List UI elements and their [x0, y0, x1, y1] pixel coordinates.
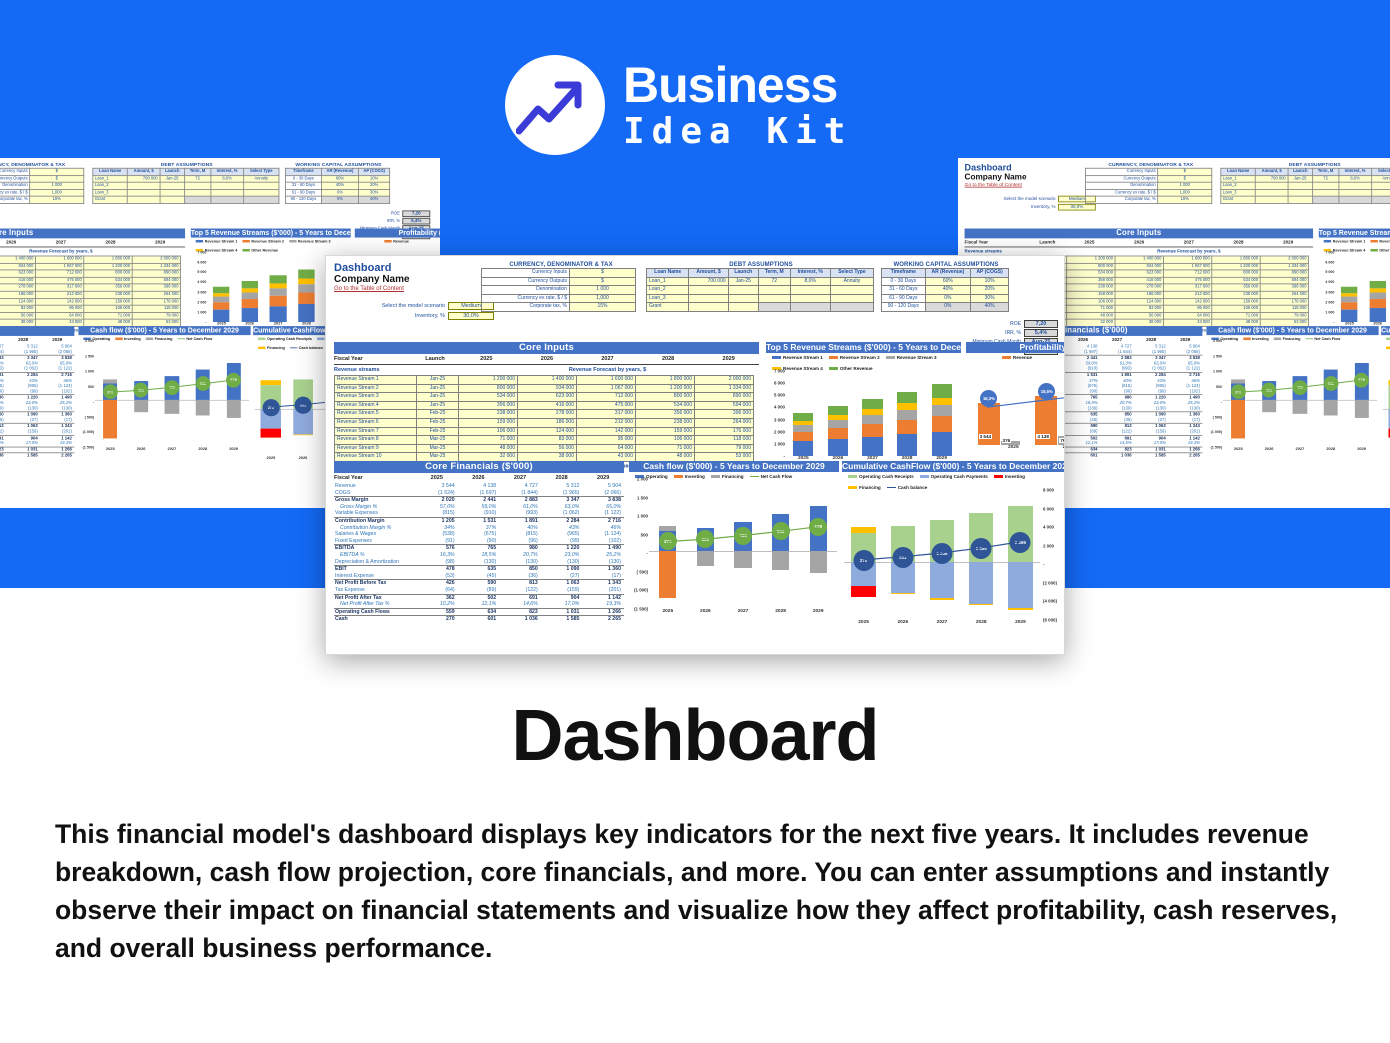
stream-value[interactable]: 1 200 000 [1212, 263, 1260, 270]
stream-value[interactable]: 534 000 [636, 401, 695, 410]
cf-row-label: Contribution Margin [334, 518, 416, 525]
chart-cash-flow: Cash flow ($'000) - 5 Years to December … [1206, 326, 1378, 456]
stream-value[interactable]: 278 000 [1115, 284, 1163, 291]
debt-cell[interactable] [244, 189, 279, 196]
wc-cell[interactable]: 61 - 90 Days [286, 189, 322, 196]
debt-cell[interactable]: Loan_2 [93, 182, 128, 189]
debt-cell[interactable]: Grant [93, 196, 128, 203]
stream-value[interactable]: 396 000 [132, 284, 180, 291]
currency-row-value[interactable]: 1,000 [30, 189, 84, 196]
stream-launch[interactable]: Feb-25 [417, 410, 459, 419]
stream-value[interactable]: 64 000 [577, 444, 636, 453]
stream-value[interactable]: 56 000 [518, 444, 577, 453]
stream-value[interactable]: 118 000 [132, 305, 180, 312]
dashboard-sheet-main[interactable]: DashboardCompany NameGo to the Table of … [325, 255, 1065, 655]
stream-value[interactable]: 264 000 [132, 291, 180, 298]
stream-value[interactable]: 238 000 [459, 410, 518, 419]
debt-cell[interactable]: Annuity [244, 175, 279, 182]
debt-cell[interactable] [1313, 182, 1339, 189]
debt-cell[interactable] [160, 196, 185, 203]
debt-cell[interactable]: Grant [647, 303, 689, 312]
stream-value[interactable]: 142 000 [35, 298, 83, 305]
debt-cell[interactable]: Annuity [1372, 175, 1390, 182]
stream-value[interactable]: 594 000 [1260, 277, 1308, 284]
stream-value[interactable]: 48 000 [1067, 312, 1115, 319]
debt-cell[interactable] [1313, 196, 1339, 203]
debt-cell[interactable] [1256, 189, 1288, 196]
stream-value[interactable]: 2 000 000 [132, 256, 180, 263]
bar-group [786, 371, 821, 456]
debt-cell[interactable] [790, 286, 830, 295]
stream-value[interactable]: 1 200 000 [636, 384, 695, 393]
stream-value[interactable]: 1 200 000 [1067, 256, 1115, 263]
table-of-content-link[interactable]: Go to the Table of Content [965, 182, 1096, 189]
wc-cell[interactable]: 31 - 60 Days [286, 182, 322, 189]
currency-denominator-tax-block: CURRENCY, DENOMINATOR & TAXCurrency Inpu… [481, 262, 641, 312]
debt-cell[interactable]: Annuity [830, 277, 873, 286]
stream-value[interactable]: 159 000 [636, 427, 695, 436]
bar-group: 679 [1346, 341, 1377, 448]
stream-value[interactable]: 64 000 [1163, 312, 1211, 319]
stream-value[interactable]: 356 000 [84, 284, 132, 291]
wc-cell[interactable]: 0% [925, 294, 971, 303]
debt-cell[interactable]: Loan_1 [647, 277, 689, 286]
stream-value[interactable]: 64 000 [35, 312, 83, 319]
debt-cell[interactable] [689, 294, 728, 303]
wc-cell[interactable]: 60% [925, 277, 971, 286]
debt-cell[interactable] [185, 189, 211, 196]
stream-value[interactable]: 594 000 [695, 401, 754, 410]
debt-cell[interactable] [128, 182, 160, 189]
stream-value[interactable]: 278 000 [0, 284, 35, 291]
stream-value[interactable]: 212 000 [577, 418, 636, 427]
stream-value[interactable]: 79 000 [695, 444, 754, 453]
stream-value[interactable]: 594 000 [132, 277, 180, 284]
stream-value[interactable]: 95 000 [1163, 305, 1211, 312]
debt-cell[interactable] [1339, 196, 1372, 203]
stream-value[interactable]: 142 000 [1163, 298, 1211, 305]
stream-value[interactable]: 83 000 [0, 305, 35, 312]
stream-value[interactable]: 623 000 [1115, 270, 1163, 277]
cf-year-header: 2029 [40, 338, 74, 343]
stream-value[interactable]: 416 000 [0, 277, 35, 284]
stream-value[interactable]: 396 000 [1260, 284, 1308, 291]
debt-cell[interactable] [1256, 196, 1288, 203]
stream-value[interactable]: 800 000 [636, 393, 695, 402]
stream-value[interactable]: 356 000 [1067, 277, 1115, 284]
debt-cell[interactable] [185, 196, 211, 203]
legend-item: Revenue Stream 3 [289, 239, 331, 243]
stream-value[interactable]: 159 000 [1067, 291, 1115, 298]
debt-cell[interactable]: 700 000 [128, 175, 160, 182]
stream-value[interactable]: 800 000 [1212, 270, 1260, 277]
cf-row-value: (1 122) [1168, 367, 1202, 372]
stream-value[interactable]: 712 000 [577, 393, 636, 402]
wc-cell[interactable]: 20% [971, 286, 1009, 295]
currency-row-value[interactable]: 1,000 [1158, 189, 1212, 196]
wc-cell[interactable]: 31 - 60 Days [882, 286, 926, 295]
stream-launch[interactable]: Jan-25 [417, 376, 459, 385]
revenue-label: 4 138 [1036, 434, 1050, 439]
stream-value[interactable]: 186 000 [1115, 291, 1163, 298]
stream-value[interactable]: 2 000 000 [1260, 256, 1308, 263]
stream-value[interactable]: 1 067 000 [577, 384, 636, 393]
stream-value[interactable]: 176 000 [132, 298, 180, 305]
stream-value[interactable]: 238 000 [636, 418, 695, 427]
debt-cell[interactable] [830, 303, 873, 312]
wc-cell[interactable]: 40% [359, 196, 390, 203]
debt-cell[interactable] [1288, 196, 1313, 203]
stream-value[interactable]: 1 334 000 [1260, 263, 1308, 270]
stream-value[interactable]: 1 200 000 [459, 376, 518, 385]
currency-row-value[interactable]: $ [570, 269, 636, 278]
debt-cell[interactable] [211, 189, 244, 196]
stream-name[interactable]: Revenue Stream 4 [335, 401, 417, 410]
debt-cell[interactable] [830, 294, 873, 303]
stream-value[interactable]: 890 000 [132, 270, 180, 277]
stream-value[interactable]: 176 000 [695, 427, 754, 436]
bar-group [236, 252, 264, 322]
debt-cell[interactable]: 72 [185, 175, 211, 182]
stream-value[interactable]: 712 000 [35, 270, 83, 277]
stream-name[interactable]: Revenue Stream 1 [335, 376, 417, 385]
stream-value[interactable]: 124 000 [1115, 298, 1163, 305]
cf-row-label: Cash [334, 616, 416, 623]
stream-value[interactable]: 416 000 [1115, 277, 1163, 284]
debt-cell[interactable] [160, 189, 185, 196]
y-tick: (1 500) [1211, 445, 1222, 449]
stream-value[interactable]: 800 000 [1067, 263, 1115, 270]
bar-segment [1370, 281, 1386, 289]
stream-value[interactable]: 95 000 [577, 436, 636, 445]
debt-cell[interactable] [128, 196, 160, 203]
wc-cell[interactable]: 30% [359, 189, 390, 196]
cf-row-label: Net Profit Before Tax [334, 580, 416, 587]
stream-value[interactable]: 159 000 [459, 418, 518, 427]
debt-cell[interactable]: Jan-25 [728, 277, 758, 286]
debt-cell[interactable] [244, 182, 279, 189]
stream-value[interactable]: 396 000 [695, 410, 754, 419]
debt-cell[interactable] [1372, 182, 1390, 189]
net-cash-flow-bubble: 550 [195, 376, 210, 391]
currency-row-label: Currency ex rate, $ / $ [482, 294, 570, 303]
debt-cell[interactable] [790, 303, 830, 312]
currency-row-value[interactable]: 15% [570, 303, 636, 312]
stream-value[interactable]: 534 000 [1212, 277, 1260, 284]
legend-swatch [829, 356, 838, 360]
debt-cell[interactable]: 8,0% [790, 277, 830, 286]
debt-cell[interactable] [1288, 182, 1313, 189]
currency-row-value[interactable]: 1 000 [1158, 182, 1212, 189]
debt-cell[interactable] [1372, 189, 1390, 196]
stream-value[interactable]: 176 000 [1260, 298, 1308, 305]
stream-name[interactable]: Revenue Stream 3 [335, 393, 417, 402]
bar-group [924, 371, 959, 456]
stream-name[interactable]: Revenue Stream 6 [335, 418, 417, 427]
stream-value[interactable]: 1 800 000 [84, 256, 132, 263]
chart-title: Top 5 Revenue Streams ($'000) - 5 Years … [1319, 229, 1390, 238]
debt-cell[interactable] [830, 286, 873, 295]
stream-value[interactable]: 356 000 [636, 410, 695, 419]
stream-value[interactable]: 106 000 [459, 427, 518, 436]
stream-value[interactable]: 238 000 [1212, 291, 1260, 298]
currency-row-value[interactable]: $ [30, 168, 84, 175]
stream-value[interactable]: 475 000 [577, 401, 636, 410]
wc-cell[interactable]: 0% [321, 196, 358, 203]
stream-value[interactable]: 56 000 [0, 312, 35, 319]
stream-value[interactable]: 186 000 [0, 291, 35, 298]
stream-name[interactable]: Revenue Stream 9 [335, 444, 417, 453]
debt-cell[interactable]: 700 000 [1256, 175, 1288, 182]
stream-value[interactable]: 142 000 [577, 427, 636, 436]
debt-col-header: Launch [1288, 168, 1313, 175]
currency-row-value[interactable]: $ [1158, 175, 1212, 182]
debt-cell[interactable]: 72 [758, 277, 790, 286]
stream-name[interactable]: Revenue Stream 5 [335, 410, 417, 419]
cf-row-value: 3 544 [416, 483, 458, 490]
inventory-input[interactable]: 30,0% [448, 312, 494, 320]
stream-value[interactable]: 1 067 000 [1163, 263, 1211, 270]
stream-value[interactable]: 317 000 [577, 410, 636, 419]
currency-row-value[interactable]: 1 000 [570, 286, 636, 295]
stream-value[interactable]: 48 000 [459, 444, 518, 453]
debt-cell[interactable]: 72 [1313, 175, 1339, 182]
debt-cell[interactable]: Grant [1221, 196, 1256, 203]
stacked-bar [213, 287, 229, 322]
stream-value[interactable]: 264 000 [695, 418, 754, 427]
debt-cell[interactable] [758, 294, 790, 303]
stream-value[interactable]: 238 000 [84, 291, 132, 298]
stream-value[interactable]: 95 000 [35, 305, 83, 312]
stream-value[interactable]: 106 000 [636, 436, 695, 445]
stream-launch[interactable]: Feb-25 [417, 427, 459, 436]
stream-value[interactable]: 71 000 [636, 444, 695, 453]
debt-cell[interactable]: 700 000 [689, 277, 728, 286]
stream-value[interactable]: 1 600 000 [35, 256, 83, 263]
debt-cell[interactable] [1339, 189, 1372, 196]
stream-value[interactable]: 317 000 [35, 284, 83, 291]
stream-value[interactable]: 1 067 000 [35, 263, 83, 270]
stream-value[interactable]: 1 334 000 [132, 263, 180, 270]
revenue-label: 3 544 [979, 434, 993, 439]
stream-value[interactable]: 1 334 000 [695, 384, 754, 393]
debt-cell[interactable] [790, 294, 830, 303]
stream-launch[interactable]: Feb-25 [417, 418, 459, 427]
debt-cell[interactable]: Loan_3 [1221, 189, 1256, 196]
stream-value[interactable]: 534 000 [84, 277, 132, 284]
debt-cell[interactable] [1288, 189, 1313, 196]
bar-group: 331 [1254, 341, 1285, 448]
stream-launch[interactable]: Mar-25 [417, 444, 459, 453]
kpi-label: ROE [391, 211, 400, 216]
debt-cell[interactable] [728, 286, 758, 295]
stream-value[interactable]: 278 000 [518, 410, 577, 419]
wc-cell[interactable]: 90 - 120 Days [286, 196, 322, 203]
stream-value[interactable]: 1 600 000 [577, 376, 636, 385]
wc-cell[interactable]: 0% [321, 189, 358, 196]
debt-cell[interactable] [758, 286, 790, 295]
debt-cell[interactable] [160, 182, 185, 189]
debt-cell[interactable] [211, 196, 244, 203]
debt-cell[interactable] [689, 303, 728, 312]
revenue-forecast-table: Revenue Stream 1Jan-251 200 0001 400 000… [0, 256, 181, 327]
stream-launch[interactable]: Jan-25 [417, 401, 459, 410]
stream-value[interactable]: 71 000 [84, 312, 132, 319]
currency-row-value[interactable]: 1,000 [570, 294, 636, 303]
stream-value[interactable]: 890 000 [695, 393, 754, 402]
debt-cell[interactable]: Loan_3 [93, 189, 128, 196]
debt-cell[interactable]: Jan-25 [160, 175, 185, 182]
stream-value[interactable]: 56 000 [1115, 312, 1163, 319]
stream-value[interactable]: 623 000 [518, 393, 577, 402]
stream-value[interactable]: 1 200 000 [84, 263, 132, 270]
stream-value[interactable]: 79 000 [132, 312, 180, 319]
stream-value[interactable]: 83 000 [1115, 305, 1163, 312]
debt-cell[interactable] [1313, 189, 1339, 196]
stream-value[interactable]: 71 000 [1212, 312, 1260, 319]
debt-cell[interactable] [185, 182, 211, 189]
stream-launch[interactable]: Mar-25 [417, 436, 459, 445]
stream-value[interactable]: 1 800 000 [1212, 256, 1260, 263]
stream-value[interactable]: 1 800 000 [636, 376, 695, 385]
stream-launch[interactable]: Jan-25 [417, 393, 459, 402]
stream-value[interactable]: 934 000 [0, 263, 35, 270]
stream-value[interactable]: 124 000 [518, 427, 577, 436]
stream-name[interactable]: Revenue Stream 7 [335, 427, 417, 436]
cf-row: Net Profit After Tax %10,2%12,1%14,6%17,… [334, 601, 624, 608]
debt-cell[interactable]: 8,0% [211, 175, 244, 182]
stream-value[interactable]: 2 000 000 [695, 376, 754, 385]
debt-cell[interactable] [211, 182, 244, 189]
stream-value[interactable]: 534 000 [459, 393, 518, 402]
debt-cell[interactable]: Loan_1 [1221, 175, 1256, 182]
year-header: 2026 [0, 240, 36, 245]
stream-name[interactable]: Revenue Stream 8 [335, 436, 417, 445]
currency-row-value[interactable]: $ [570, 277, 636, 286]
table-row: Revenue Stream 4Jan-25356 000416 000475 … [335, 401, 754, 410]
financing-bar [1262, 400, 1276, 412]
debt-cell[interactable]: Loan_1 [93, 175, 128, 182]
currency-row-value[interactable]: $ [1158, 168, 1212, 175]
debt-cell[interactable] [1339, 182, 1372, 189]
stream-value[interactable]: 317 000 [1163, 284, 1211, 291]
stream-value[interactable]: 534 000 [1067, 270, 1115, 277]
stream-value[interactable]: 934 000 [518, 384, 577, 393]
debt-cell[interactable] [728, 303, 758, 312]
stream-value[interactable]: 475 000 [1163, 277, 1211, 284]
wc-cell[interactable]: 40% [321, 182, 358, 189]
debt-cell[interactable] [758, 303, 790, 312]
stream-value[interactable]: 475 000 [35, 277, 83, 284]
debt-cell[interactable]: Loan_2 [1221, 182, 1256, 189]
net-cash-flow-bubble: 331 [134, 383, 149, 398]
wc-cell[interactable]: 10% [971, 277, 1009, 286]
wc-cell[interactable]: 0 - 30 Days [882, 277, 926, 286]
debt-cell[interactable]: Jan-25 [1288, 175, 1313, 182]
stream-value[interactable]: 238 000 [1067, 284, 1115, 291]
stream-name[interactable]: Revenue Stream 2 [335, 384, 417, 393]
wc-cell[interactable]: 0 - 30 Days [286, 175, 322, 182]
wc-cell[interactable]: 60% [321, 175, 358, 182]
wc-cell[interactable]: 40% [925, 286, 971, 295]
wc-cell[interactable]: 40% [971, 303, 1009, 312]
stream-value[interactable]: 356 000 [459, 401, 518, 410]
currency-row-value[interactable]: 15% [30, 196, 84, 203]
stream-value[interactable]: 212 000 [35, 291, 83, 298]
stream-value[interactable]: 106 000 [1212, 305, 1260, 312]
stream-value[interactable]: 623 000 [0, 270, 35, 277]
debt-cell[interactable] [244, 196, 279, 203]
stream-value[interactable]: 79 000 [1260, 312, 1308, 319]
stream-value[interactable]: 800 000 [84, 270, 132, 277]
cf-row-value: (815) [416, 510, 458, 517]
stream-value[interactable]: 1 400 000 [1115, 256, 1163, 263]
stream-value[interactable]: 118 000 [1260, 305, 1308, 312]
stream-value[interactable]: 800 000 [459, 384, 518, 393]
stream-value[interactable]: 71 000 [1067, 305, 1115, 312]
inventory-input[interactable]: 30,0% [1058, 204, 1096, 211]
cf-row-value: 57,0% [416, 504, 458, 511]
stream-value[interactable]: 712 000 [1163, 270, 1211, 277]
bar-group: 270 [844, 490, 883, 620]
debt-cell[interactable] [1256, 182, 1288, 189]
stream-value[interactable]: 106 000 [1067, 298, 1115, 305]
stream-value[interactable]: 890 000 [1260, 270, 1308, 277]
cash-balance-bubble: 601 [892, 547, 913, 568]
currency-row-value[interactable]: 15% [1158, 196, 1212, 203]
stream-value[interactable]: 416 000 [518, 401, 577, 410]
stream-value[interactable]: 186 000 [518, 418, 577, 427]
stream-value[interactable]: 356 000 [1212, 284, 1260, 291]
debt-cell[interactable] [728, 294, 758, 303]
wc-cell[interactable]: 20% [359, 182, 390, 189]
wc-cell[interactable]: 90 - 120 Days [882, 303, 926, 312]
currency-row-value[interactable]: $ [30, 175, 84, 182]
x-tick: 2027 [922, 620, 961, 630]
wc-cell[interactable]: 10% [359, 175, 390, 182]
stream-value[interactable]: 159 000 [84, 298, 132, 305]
stream-value[interactable]: 159 000 [1212, 298, 1260, 305]
stream-value[interactable]: 1 400 000 [518, 376, 577, 385]
debt-cell[interactable]: 8,0% [1339, 175, 1372, 182]
stream-value[interactable]: 83 000 [518, 436, 577, 445]
wc-cell[interactable]: 0% [925, 303, 971, 312]
debt-cell[interactable] [1372, 196, 1390, 203]
stream-value[interactable]: 71 000 [459, 436, 518, 445]
stream-value[interactable]: 106 000 [84, 305, 132, 312]
debt-cell[interactable]: Loan_3 [647, 294, 689, 303]
stream-value[interactable]: 934 000 [1115, 263, 1163, 270]
bar-group: 550 [762, 479, 800, 609]
stream-value[interactable]: 1 400 000 [0, 256, 35, 263]
cf-row-value: 1 036 [1100, 453, 1134, 458]
debt-cell[interactable] [689, 286, 728, 295]
wc-cell[interactable]: 61 - 90 Days [882, 294, 926, 303]
wc-cell[interactable]: 30% [971, 294, 1009, 303]
stream-value[interactable]: 124 000 [0, 298, 35, 305]
table-of-content-link[interactable]: Go to the Table of Content [334, 285, 494, 294]
debt-cell[interactable] [128, 189, 160, 196]
stream-value[interactable]: 212 000 [1163, 291, 1211, 298]
table-row: 61 - 90 Days0%30% [286, 189, 390, 196]
stream-value[interactable]: 118 000 [695, 436, 754, 445]
stream-value[interactable]: 1 600 000 [1163, 256, 1211, 263]
stream-value[interactable]: 264 000 [1260, 291, 1308, 298]
debt-cell[interactable]: Loan_2 [647, 286, 689, 295]
stream-launch[interactable]: Jan-25 [417, 384, 459, 393]
currency-row-value[interactable]: 1 000 [30, 182, 84, 189]
bar-segment [897, 392, 917, 404]
